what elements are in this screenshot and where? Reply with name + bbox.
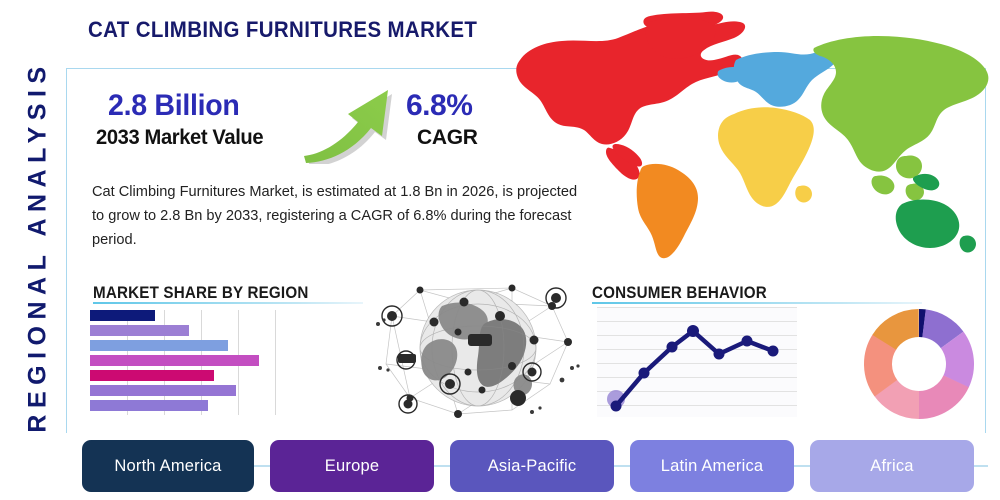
tab-label: Europe bbox=[325, 457, 379, 476]
tab-north-america[interactable]: North America bbox=[82, 440, 254, 492]
section-header-market-share: MARKET SHARE BY REGION bbox=[93, 284, 308, 303]
sidebar-label: REGIONAL ANALYSIS bbox=[24, 57, 53, 437]
table-row bbox=[90, 400, 208, 411]
market-value-number: 2.8 Billion bbox=[108, 89, 239, 123]
growth-arrow-icon bbox=[300, 84, 410, 164]
table-row bbox=[90, 355, 259, 366]
regional-donut-chart bbox=[863, 308, 975, 420]
tab-label: Asia-Pacific bbox=[488, 457, 577, 476]
market-value-label: 2033 Market Value bbox=[96, 126, 263, 150]
table-row bbox=[90, 385, 236, 396]
regional-analysis-sidebar: REGIONAL ANALYSIS bbox=[0, 0, 70, 500]
tab-label: Africa bbox=[870, 457, 913, 476]
table-row bbox=[90, 370, 214, 381]
tab-europe[interactable]: Europe bbox=[270, 440, 434, 492]
infographic-root: REGIONAL ANALYSIS CAT CLIMBING FURNITURE… bbox=[0, 0, 1000, 500]
tab-label: North America bbox=[114, 457, 221, 476]
region-tabs: North America Europe Asia-Pacific Latin … bbox=[82, 440, 986, 492]
table-row bbox=[90, 325, 189, 336]
table-row bbox=[90, 340, 228, 351]
tab-label: Latin America bbox=[661, 457, 764, 476]
tab-latin-america[interactable]: Latin America bbox=[630, 440, 794, 492]
market-share-bar-chart bbox=[90, 310, 280, 415]
kpi-block: 2.8 Billion 2033 Market Value 6.8% CAGR bbox=[86, 90, 506, 168]
line-chart-series bbox=[597, 307, 797, 417]
section-rule-market-share bbox=[93, 302, 363, 304]
page-title: CAT CLIMBING FURNITURES MARKET bbox=[88, 17, 477, 43]
tab-africa[interactable]: Africa bbox=[810, 440, 974, 492]
cagr-number: 6.8% bbox=[406, 89, 472, 123]
cagr-label: CAGR bbox=[417, 126, 478, 150]
world-map-icon bbox=[498, 8, 998, 270]
section-header-consumer-behavior: CONSUMER BEHAVIOR bbox=[592, 284, 767, 303]
global-network-globe-icon bbox=[372, 272, 584, 424]
table-row bbox=[90, 310, 155, 321]
section-rule-consumer-behavior bbox=[592, 302, 922, 304]
consumer-behavior-line-chart bbox=[597, 307, 797, 417]
tab-asia-pacific[interactable]: Asia-Pacific bbox=[450, 440, 614, 492]
